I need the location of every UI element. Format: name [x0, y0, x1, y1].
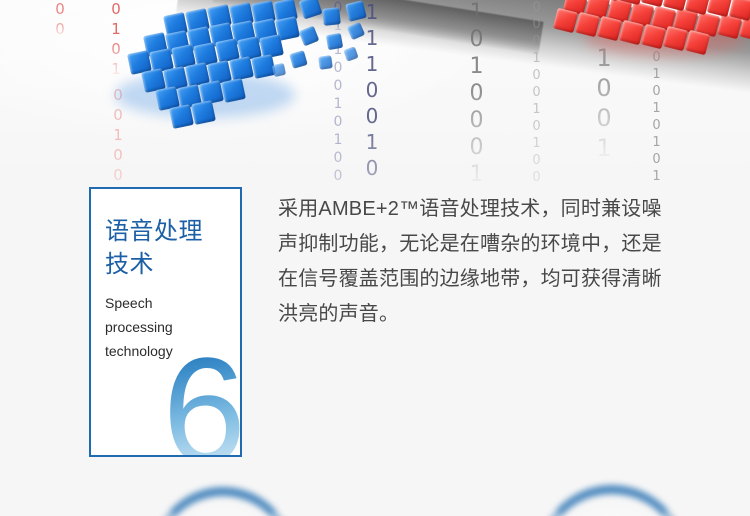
- card-en-title: Speech processing technology: [105, 291, 215, 363]
- card-cn-title: 语音处理技术: [105, 215, 223, 281]
- binary-digit-column: 11001: [592, 14, 616, 164]
- binary-digit-column: 00010010100110: [530, 0, 543, 185]
- speech-processing-title-card: 语音处理技术 Speech processing technology 6: [89, 187, 242, 457]
- binary-digit-column: 01: [331, 0, 345, 36]
- binary-digit-column: 00: [52, 0, 67, 40]
- title-card-content: 语音处理技术 Speech processing technology 6: [91, 189, 240, 455]
- page-root: 0001010010010011001010001001111001010110…: [0, 0, 750, 516]
- binary-digit-column: 0101010101101100: [650, 50, 663, 185]
- card-en-title-line-1: Speech: [105, 291, 215, 315]
- binary-digit-column: 0101: [108, 0, 123, 80]
- decorative-tech-banner: 0001010010010011001010001001111001010110…: [0, 0, 750, 185]
- bubble-right: [537, 485, 687, 516]
- card-en-title-line-2: processing: [105, 315, 215, 339]
- binary-digit-column: 1010001: [465, 0, 487, 185]
- card-en-title-line-3: technology: [105, 339, 215, 363]
- binary-digit-column: 1110010101: [362, 0, 382, 185]
- bubble-left: [152, 487, 294, 516]
- binary-digit-column: 0010010: [110, 86, 125, 185]
- feature-description-text: 采用AMBE+2™语音处理技术，同时兼设噪声抑制功能，无论是在嘈杂的环境中，还是…: [278, 192, 678, 332]
- binary-digit-column: 1001010001001: [331, 42, 345, 185]
